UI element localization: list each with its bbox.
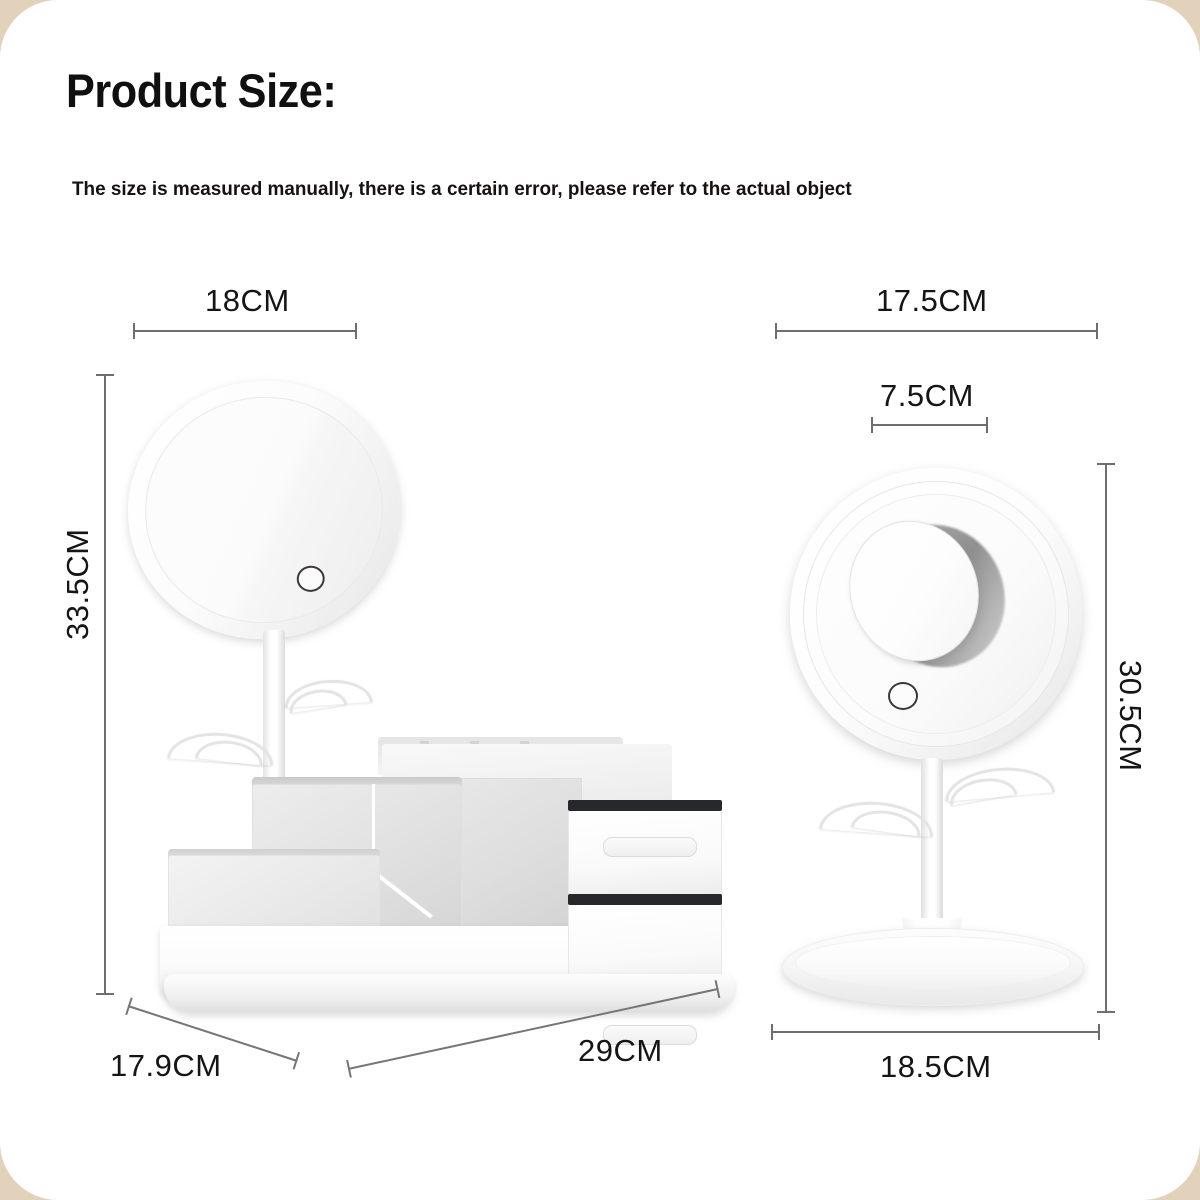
round-tray-base (782, 928, 1084, 1006)
dimension-line-right-base-width (771, 1031, 1100, 1033)
dimension-label-left-height: 33.5CM (60, 528, 96, 640)
dimension-line-right-height (1105, 463, 1107, 1013)
drawer-top[interactable] (568, 808, 722, 896)
mirror-face (132, 383, 396, 636)
dimension-label-right-base-width: 18.5CM (880, 1049, 992, 1085)
dimension-label-left-depth: 17.9CM (110, 1048, 222, 1084)
page-title: Product Size: (66, 63, 336, 118)
dimension-line-right-magnifier-width (871, 424, 988, 426)
dimension-line-left-width (133, 330, 357, 332)
tray-inner-surface (795, 936, 1071, 989)
dimension-label-right-mirror-width: 17.5CM (876, 283, 988, 319)
dimension-label-right-magnifier-width: 7.5CM (880, 378, 974, 414)
organizer-base-tray (164, 974, 734, 1012)
drawer-pull-icon[interactable] (603, 837, 697, 857)
dimension-label-left-length: 29CM (578, 1033, 663, 1069)
dimension-line-right-mirror-width (775, 330, 1098, 332)
drawer-accent-stripe (568, 894, 722, 905)
product-size-card: Product Size: The size is measured manua… (0, 0, 1200, 1200)
storage-organizer (160, 736, 720, 1011)
organizer-drawer-stack (568, 798, 728, 998)
round-mirror (790, 468, 1082, 760)
dimension-label-left-width: 18CM (205, 283, 290, 319)
dimension-line-left-height (104, 374, 106, 995)
oval-mirror (113, 365, 414, 654)
drawer-accent-stripe (568, 800, 722, 811)
measurement-disclaimer: The size is measured manually, there is … (72, 178, 852, 201)
touch-button-icon[interactable] (888, 682, 918, 710)
dimension-label-right-height: 30.5CM (1112, 660, 1148, 772)
